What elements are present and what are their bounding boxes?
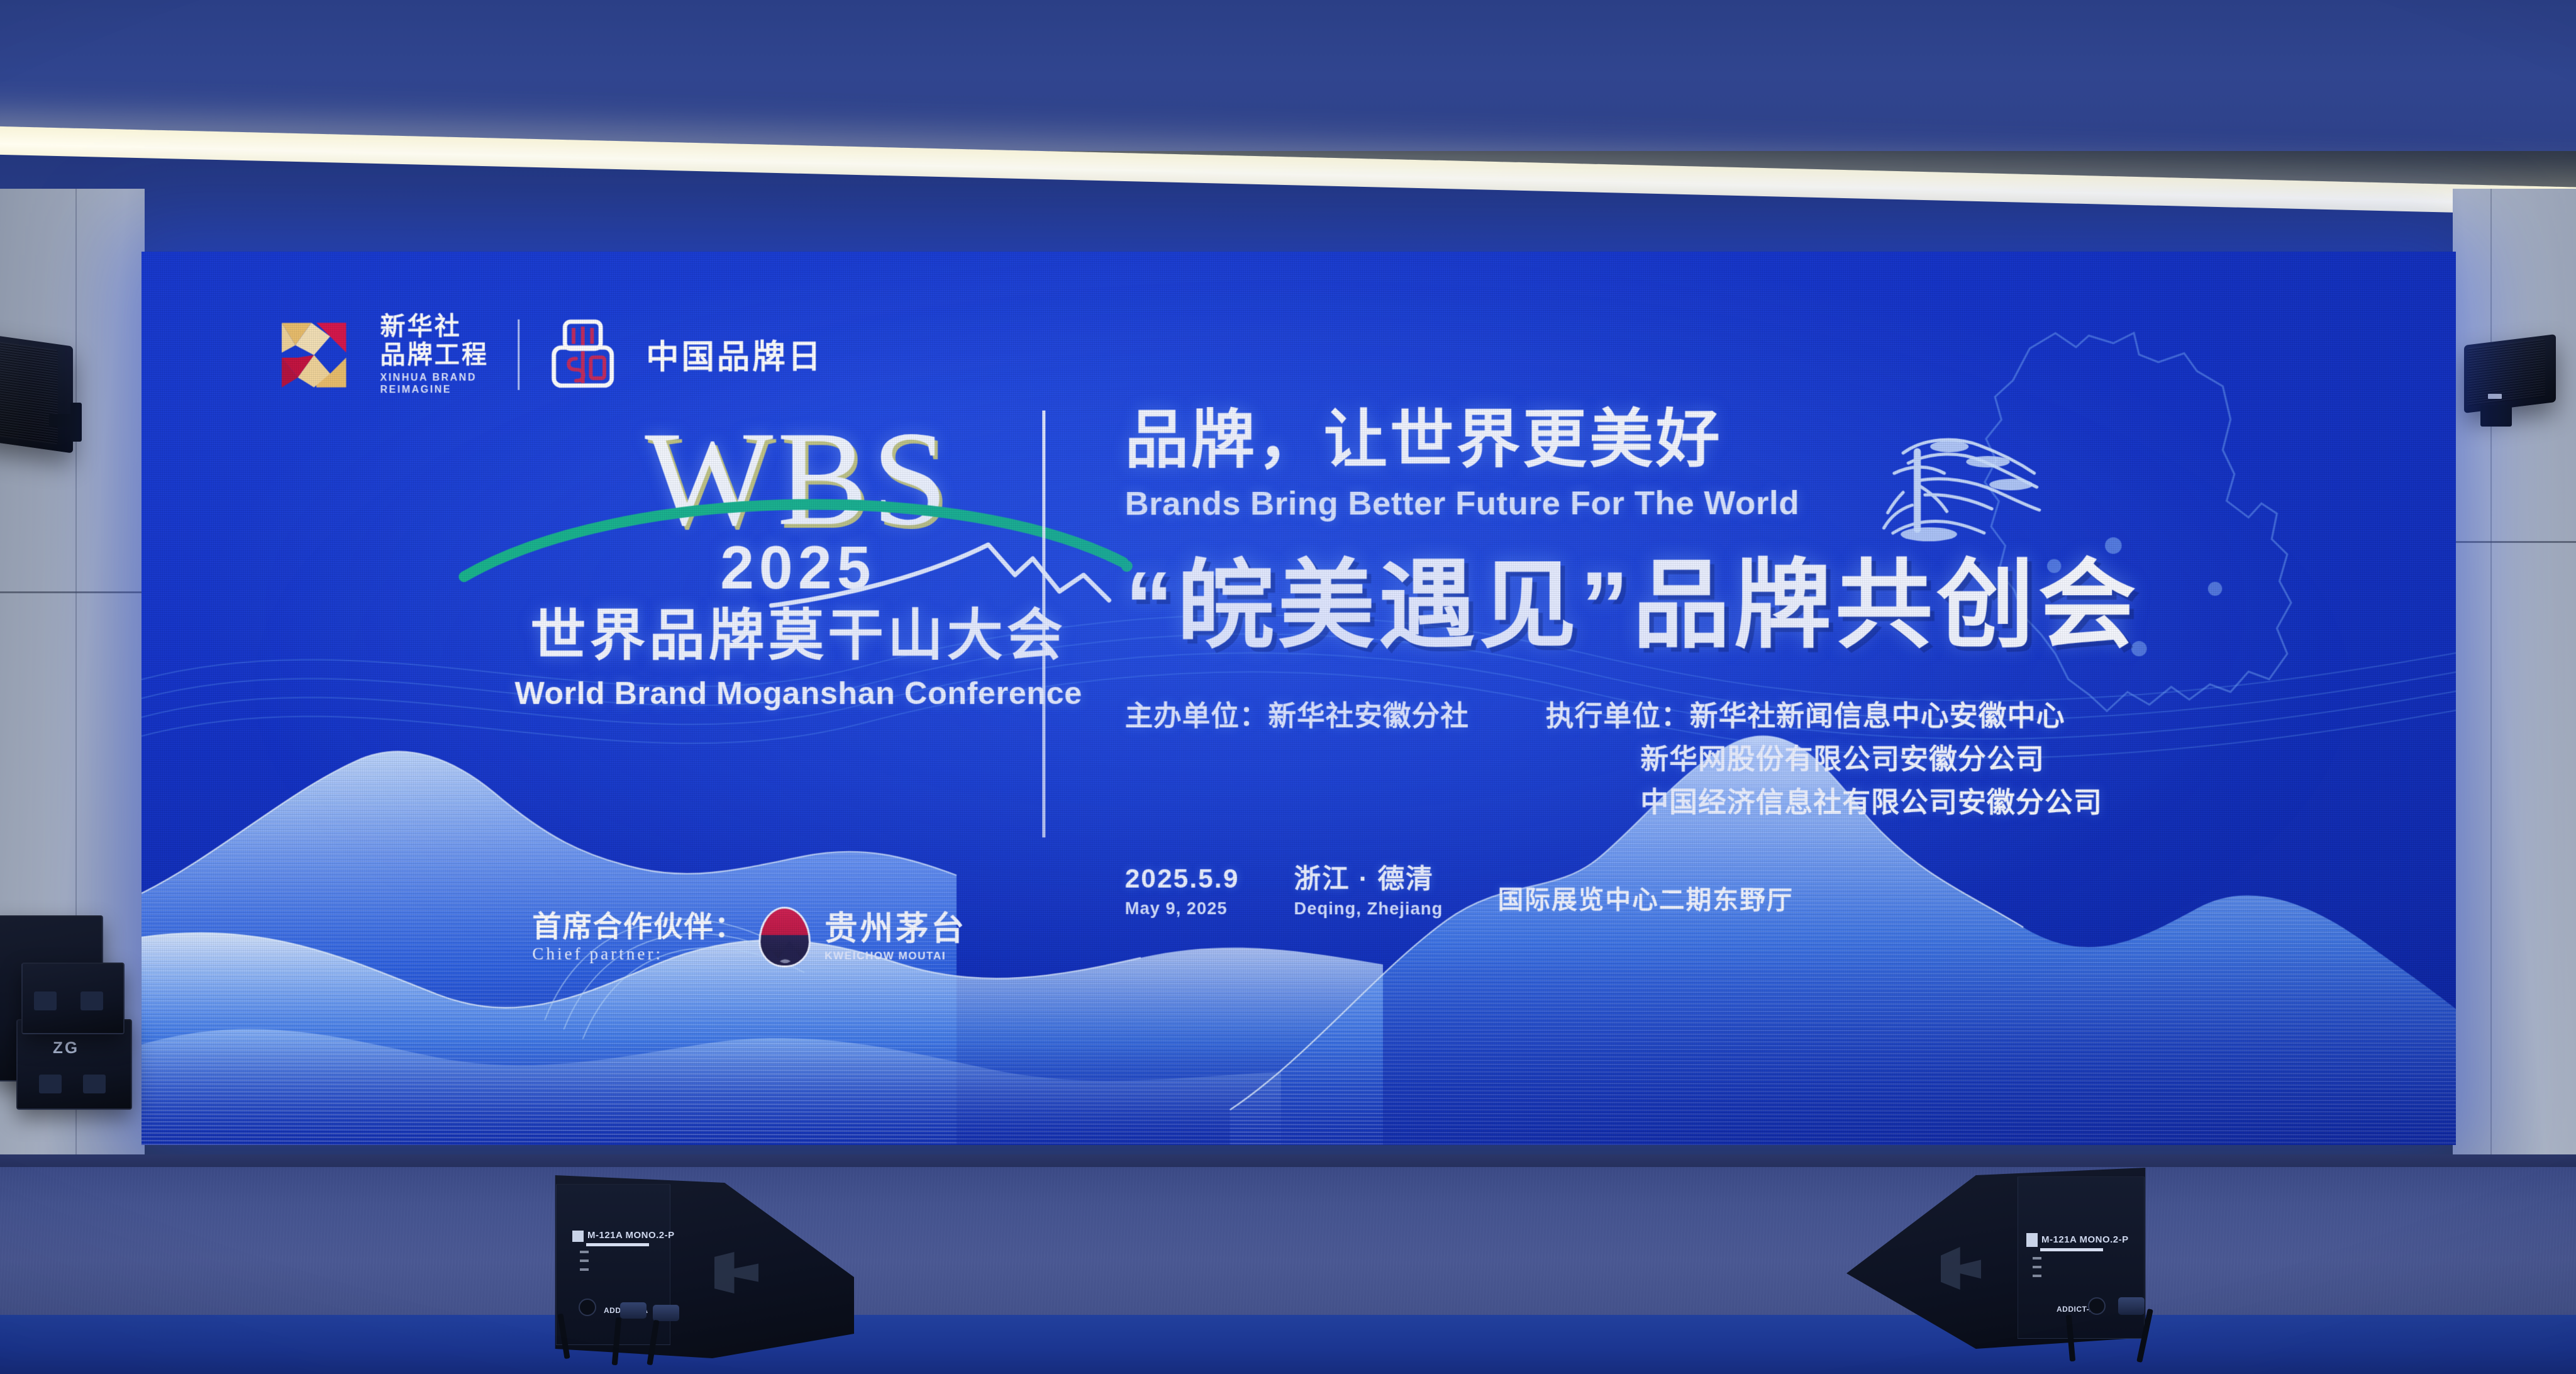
executor-entry-1: 新华社新闻信息中心安徽中心 [1690, 701, 2065, 732]
monitor-label-underline [2040, 1248, 2103, 1251]
executor-line-2: 新华网股份有限公司安徽分公司 [1546, 738, 2102, 781]
wall-seam [0, 591, 145, 593]
backdrop-logo-row: 新华社 品牌工程 XINHUA BRAND REIMAGINE [277, 313, 823, 396]
case-corner-fitting [80, 991, 103, 1010]
executor-column: 执行单位：新华社新闻信息中心安徽中心 新华网股份有限公司安徽分公司 中国经济信息… [1546, 695, 2102, 825]
event-date-en: May 9, 2025 [1125, 899, 1240, 919]
event-city-en: Deqing, Zhejiang [1294, 900, 1443, 920]
speaker-brand-badge [2488, 394, 2502, 399]
monitor-model-label: M-121A MONO.2-P [587, 1230, 675, 1241]
executor-line-1: 执行单位：新华社新闻信息中心安徽中心 [1546, 695, 2102, 739]
wall-panel-line [2490, 189, 2492, 1170]
monitor-power-port [579, 1299, 596, 1316]
event-date-cn: 2025.5.9 [1125, 864, 1240, 895]
wbs-event-logo: WBS 2025 世界品牌莫干山大会 World Brand Moganshan… [494, 413, 1102, 712]
china-brand-day-label: 中国品牌日 [646, 330, 823, 378]
speaker-wall-bracket [70, 403, 82, 442]
monitor-brand-swatch [2026, 1233, 2038, 1247]
road-case-label: ZG [53, 1038, 79, 1058]
road-case-middle [21, 963, 125, 1034]
speaker-wall-bracket [2480, 405, 2512, 427]
huangshan-welcoming-pine-icon [1853, 415, 2053, 558]
host-label: 主办单位： [1125, 701, 1269, 732]
monitor-power-port [2088, 1297, 2106, 1315]
vertical-divider [1042, 411, 1045, 838]
monitor-label-underline [586, 1243, 649, 1246]
monitor-spec-mark [580, 1268, 589, 1271]
led-backdrop-screen: 新华社 品牌工程 XINHUA BRAND REIMAGINE [142, 252, 2456, 1145]
moutai-name-en: KWEICHOW MOUTAI [824, 951, 967, 961]
page-title: “皖美遇见”品牌共创会 [1125, 555, 2407, 657]
tagline-cn: 品牌，让世界更美好 [1125, 405, 2407, 474]
chief-partner-label-cn: 首席合作伙伴： [532, 911, 745, 941]
monitor-spec-mark [2033, 1257, 2041, 1259]
stage-monitor-left: M-121A MONO.2-P ADDICT-AA [546, 1171, 854, 1360]
wall-seam [2453, 541, 2576, 543]
event-city-cn: 浙江 · 德清 [1294, 864, 1443, 895]
host-column: 主办单位：新华社安徽分社 [1125, 695, 1469, 739]
monitor-speakon-connector [620, 1302, 647, 1319]
event-city: 浙江 · 德清 Deqing, Zhejiang [1294, 864, 1443, 919]
stage-room-photo: 新华社 品牌工程 XINHUA BRAND REIMAGINE [0, 0, 2576, 1374]
open-book-icon [548, 319, 617, 390]
wbs-name-en: World Brand Moganshan Conference [494, 675, 1102, 712]
chief-partner-row: 首席合作伙伴： Chief partner: 贵州茅台 KWEICHOW MOU… [532, 907, 967, 968]
monitor-spec-mark [2033, 1275, 2041, 1277]
wall-speaker-right [2464, 340, 2576, 472]
event-meta-row: 2025.5.9 May 9, 2025 浙江 · 德清 Deqing, Zhe… [1125, 864, 2407, 920]
host-line: 主办单位：新华社安徽分社 [1125, 695, 1469, 739]
organizers-row: 主办单位：新华社安徽分社 执行单位：新华社新闻信息中心安徽中心 新华网股份有限公… [1125, 695, 2407, 825]
moutai-name-cn: 贵州茅台 [824, 913, 967, 946]
case-corner-fitting [34, 991, 57, 1010]
stage-skirt [0, 1315, 2576, 1374]
logo-divider [518, 319, 519, 389]
moutai-wordmark: 贵州茅台 KWEICHOW MOUTAI [824, 913, 967, 961]
ceiling-upper-panel [0, 0, 2576, 151]
event-date: 2025.5.9 May 9, 2025 [1125, 864, 1240, 919]
wall-right [2453, 189, 2576, 1170]
chief-partner-labels: 首席合作伙伴： Chief partner: [532, 911, 745, 963]
speaker-grille [2467, 338, 2545, 406]
xinhua-line1: 新华社 [380, 314, 489, 339]
event-venue-cn: 国际展览中心二期东野厅 [1498, 879, 1794, 920]
executor-line-3: 中国经济信息社有限公司安徽分公司 [1546, 781, 2102, 825]
case-corner-fitting [83, 1075, 106, 1093]
monitor-speakon-connector [653, 1305, 679, 1321]
wall-speaker-left [0, 340, 130, 472]
monitor-brand-swatch [572, 1231, 584, 1242]
chief-partner-label-en: Chief partner: [532, 945, 745, 963]
moutai-logo-icon [758, 907, 811, 967]
host-entry: 新华社安徽分社 [1268, 701, 1468, 732]
monitor-model-label: M-121A MONO.2-P [2041, 1234, 2129, 1245]
xinhua-logo-text: 新华社 品牌工程 XINHUA BRAND REIMAGINE [380, 314, 489, 396]
executor-label: 执行单位： [1546, 701, 1690, 732]
wbs-acronym: WBS [645, 414, 952, 544]
xinhua-line4: REIMAGINE [380, 385, 489, 395]
xinhua-line2: 品牌工程 [380, 342, 489, 367]
xinhua-brand-mark-icon [277, 318, 351, 392]
monitor-spec-mark [580, 1259, 589, 1262]
stage-monitor-right: M-121A MONO.2-P ADDICT-AA [1846, 1168, 2155, 1356]
backdrop-right-content: 品牌，让世界更美好 Brands Bring Better Future For… [1125, 405, 2407, 920]
case-corner-fitting [39, 1075, 62, 1093]
wbs-name-cn: 世界品牌莫干山大会 [494, 605, 1102, 666]
speaker-grille [0, 340, 58, 445]
tagline-en: Brands Bring Better Future For The World [1125, 484, 2407, 523]
monitor-spec-mark [2033, 1266, 2041, 1268]
xinhua-line3: XINHUA BRAND [380, 373, 489, 383]
monitor-spec-mark [580, 1251, 589, 1253]
monitor-speakon-connector [2118, 1297, 2145, 1315]
